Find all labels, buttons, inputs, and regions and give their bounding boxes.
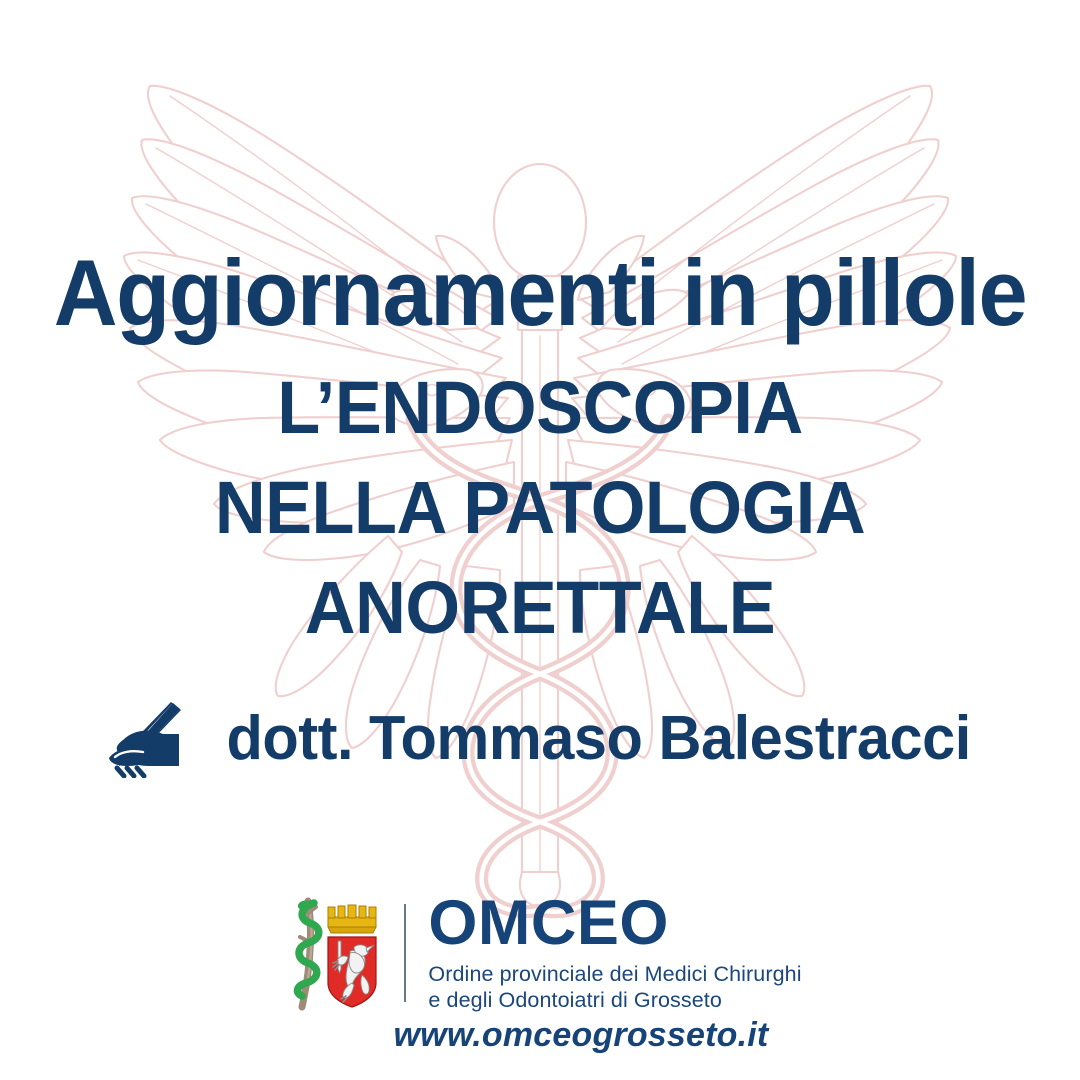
logo-text-block: OMCEO Ordine provinciale dei Medici Chir… — [428, 893, 801, 1013]
speaker-name: dott. Tommaso Balestracci — [227, 708, 971, 770]
logo-divider — [404, 904, 406, 1002]
event-subtitle: L’ENDOSCOPIA NELLA PATOLOGIA ANORETTALE — [0, 358, 1080, 658]
omceo-logo: OMCEO Ordine provinciale dei Medici Chir… — [0, 893, 1080, 1013]
subtitle-line-1: L’ENDOSCOPIA — [27, 358, 1053, 458]
speaker-row: dott. Tommaso Balestracci — [0, 700, 1080, 778]
omceo-tagline-line-2: e degli Odontoiatri di Grosseto — [428, 987, 801, 1013]
omceo-tagline-line-1: Ordine provinciale dei Medici Chirurghi — [428, 961, 801, 987]
omceo-tagline: Ordine provinciale dei Medici Chirurghi … — [428, 961, 801, 1013]
subtitle-line-3: ANORETTALE — [27, 558, 1053, 658]
subtitle-line-2: NELLA PATOLOGIA — [27, 458, 1053, 558]
writing-hand-icon — [93, 700, 189, 778]
page-title: Aggiornamenti in pillole — [32, 246, 1047, 340]
grosseto-coat-of-arms-icon — [278, 895, 390, 1011]
poster-canvas: Aggiornamenti in pillole L’ENDOSCOPIA NE… — [0, 0, 1080, 1080]
omceo-wordmark: OMCEO — [428, 893, 669, 955]
website-url[interactable]: www.omceogrosseto.it — [0, 1016, 1080, 1055]
